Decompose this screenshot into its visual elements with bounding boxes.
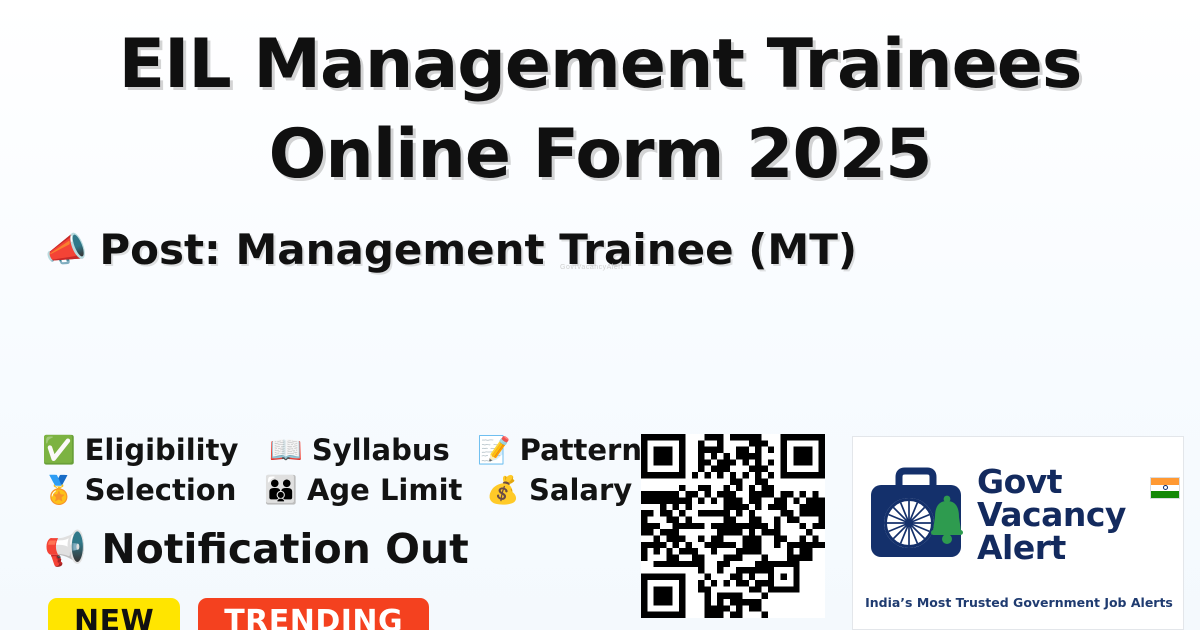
feature-age-limit: 👪 Age Limit [264, 473, 462, 507]
notification-text: Notification Out [101, 525, 468, 573]
india-flag-icon [1150, 477, 1180, 499]
brand-logo-card: Govt Vacancy Alert India’s Most Trusted … [852, 436, 1184, 630]
exam-paper-icon: 📝 [477, 437, 511, 464]
brand-logo: Govt Vacancy Alert [861, 465, 1126, 564]
poster-canvas: EIL Management Trainees Online Form 2025… [0, 0, 1200, 630]
briefcase-ashoka-bell-icon [861, 467, 971, 563]
status-badge-trending: TRENDING [198, 598, 429, 630]
brand-line-2: Vacancy [977, 498, 1126, 531]
badge-row: NEW TRENDING [48, 598, 429, 630]
brand-tagline: India’s Most Trusted Government Job Aler… [853, 595, 1185, 610]
title-line-1: EIL Management Trainees [0, 20, 1200, 110]
selection-icon: 🏅 [42, 477, 76, 504]
post-text: Post: Management Trainee (MT) [99, 225, 857, 274]
feature-row-1: ✅ Eligibility 📖 Syllabus 📝 Pattern [42, 430, 642, 470]
feature-row-2: 🏅 Selection 👪 Age Limit 💰 Salary [42, 470, 642, 510]
brand-line-3: Alert [977, 531, 1126, 564]
brand-line-1: Govt [977, 465, 1126, 498]
page-title: EIL Management Trainees Online Form 2025 [0, 20, 1200, 200]
check-mark-icon: ✅ [42, 437, 76, 464]
watermark-text: GovtVacancyAlert [560, 264, 624, 271]
feature-label: Pattern [520, 433, 642, 467]
feature-eligibility: ✅ Eligibility [42, 433, 238, 467]
feature-syllabus: 📖 Syllabus [269, 433, 450, 467]
megaphone-icon: 📣 [45, 233, 87, 267]
feature-label: Eligibility [85, 433, 239, 467]
loudspeaker-icon: 📢 [44, 532, 86, 566]
brand-logo-text: Govt Vacancy Alert [977, 465, 1126, 564]
status-badge-new: NEW [48, 598, 180, 630]
open-book-icon: 📖 [269, 437, 303, 464]
feature-pattern: 📝 Pattern [477, 433, 642, 467]
qr-code[interactable] [641, 434, 825, 618]
feature-salary: 💰 Salary [486, 473, 632, 507]
feature-label: Age Limit [307, 473, 462, 507]
feature-label: Salary [529, 473, 632, 507]
post-line: 📣 Post: Management Trainee (MT) [45, 225, 857, 274]
money-bag-icon: 💰 [486, 477, 520, 504]
qr-code-canvas [641, 434, 825, 618]
feature-selection: 🏅 Selection [42, 473, 236, 507]
age-limit-icon: 👪 [264, 477, 298, 504]
feature-label: Syllabus [312, 433, 450, 467]
title-line-2: Online Form 2025 [0, 110, 1200, 200]
notification-status: 📢 Notification Out [44, 525, 469, 573]
feature-grid: ✅ Eligibility 📖 Syllabus 📝 Pattern 🏅 Sel… [42, 430, 642, 510]
feature-label: Selection [85, 473, 237, 507]
